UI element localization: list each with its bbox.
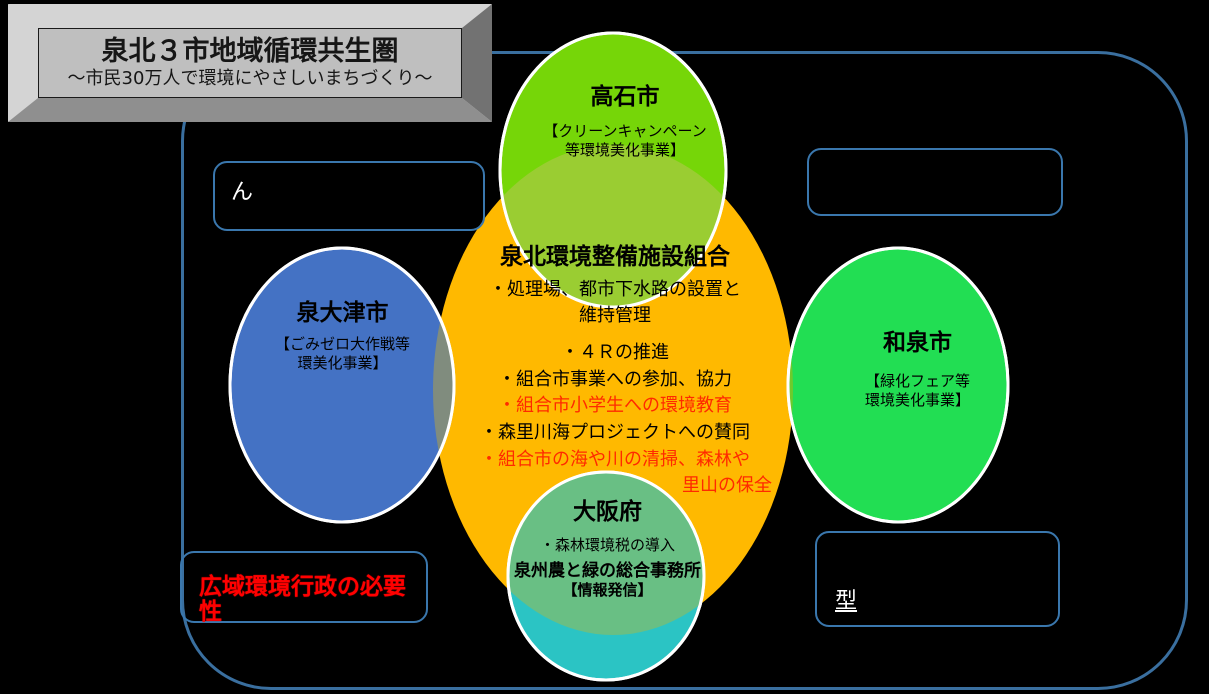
page-title: 泉北３市地域循環共生圏: [102, 36, 399, 67]
note-box-bottom-right[interactable]: 型: [815, 531, 1060, 627]
note-box-bottom-left[interactable]: 広域環境行政の必要性: [180, 551, 428, 623]
plaque-bevel-top: [8, 4, 492, 28]
note-top-left-text: ん: [231, 181, 253, 205]
diagram-canvas: 高石市 【クリーンキャンペーン 等環境美化事業】 泉大津市 【ごみゼロ大作戦等 …: [0, 0, 1209, 694]
page-subtitle: ～市民30万人で環境にやさしいまちづくり～: [68, 67, 433, 90]
plaque-face: 泉北３市地域循環共生圏 ～市民30万人で環境にやさしいまちづくり～: [38, 28, 462, 98]
note-box-top-right[interactable]: [807, 148, 1063, 216]
note-bottom-right-text: 型: [835, 590, 857, 614]
note-bottom-left-text: 広域環境行政の必要性: [199, 575, 426, 626]
plaque-bevel-bottom: [8, 98, 492, 122]
title-plaque: 泉北３市地域循環共生圏 ～市民30万人で環境にやさしいまちづくり～: [8, 4, 492, 122]
note-box-top-left[interactable]: ん: [213, 161, 485, 231]
